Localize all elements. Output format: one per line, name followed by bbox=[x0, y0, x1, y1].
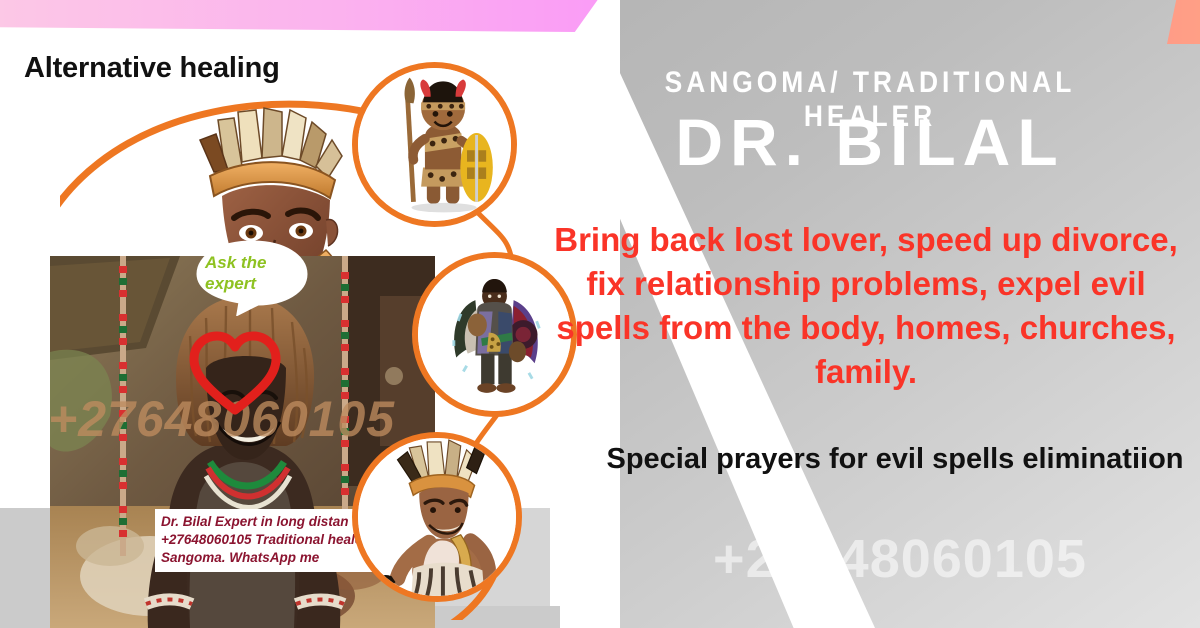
heart-icon bbox=[188, 330, 282, 416]
prayers-line-1: Special prayers for evil spells bbox=[606, 443, 1014, 475]
poster-canvas: Alternative healing bbox=[0, 0, 1200, 628]
circle-zulu-warrior[interactable] bbox=[352, 62, 517, 227]
circle-crouching-healer[interactable] bbox=[352, 432, 522, 602]
page-title: Alternative healing bbox=[24, 52, 280, 85]
ghost-phone-number: +27648060105 bbox=[600, 528, 1200, 590]
pink-accent-band bbox=[0, 0, 599, 32]
services-text: Bring back lost lover, speed up divorce,… bbox=[548, 218, 1184, 394]
healer-name: DR. BILAL bbox=[560, 104, 1180, 180]
prayers-line-2: eliminatiion bbox=[1022, 443, 1183, 475]
ask-the-expert-label: Ask the expert bbox=[205, 252, 305, 295]
special-prayers-text: Special prayers for evil spells eliminat… bbox=[600, 440, 1190, 478]
